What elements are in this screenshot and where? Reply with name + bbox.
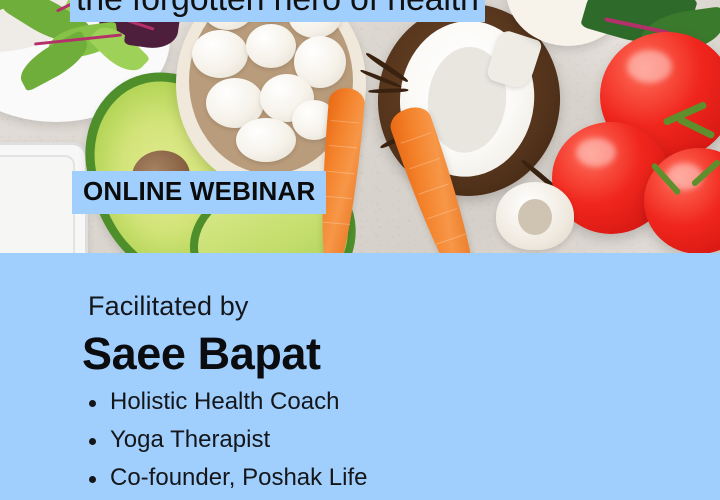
- hero-food-photo: the forgotten hero of health ONLINE WEBI…: [0, 0, 720, 253]
- online-webinar-badge: ONLINE WEBINAR: [72, 171, 326, 214]
- tomato-highlight: [627, 50, 673, 83]
- tomato-highlight: [576, 138, 616, 167]
- credentials-list: Holistic Health CoachYoga TherapistCo-fo…: [86, 383, 368, 497]
- page-title: the forgotten hero of health: [70, 0, 485, 22]
- presenter-name: Saee Bapat: [82, 328, 321, 380]
- facilitated-by-label: Facilitated by: [88, 291, 248, 322]
- credential-item: Holistic Health Coach: [86, 383, 368, 421]
- webinar-poster: the forgotten hero of health ONLINE WEBI…: [0, 0, 720, 500]
- presenter-panel: Facilitated by Saee Bapat Holistic Healt…: [0, 253, 720, 500]
- sliced-mushroom: [496, 182, 574, 250]
- credential-item: Yoga Therapist: [86, 421, 368, 459]
- credential-item: Co-founder, Poshak Life: [86, 459, 368, 497]
